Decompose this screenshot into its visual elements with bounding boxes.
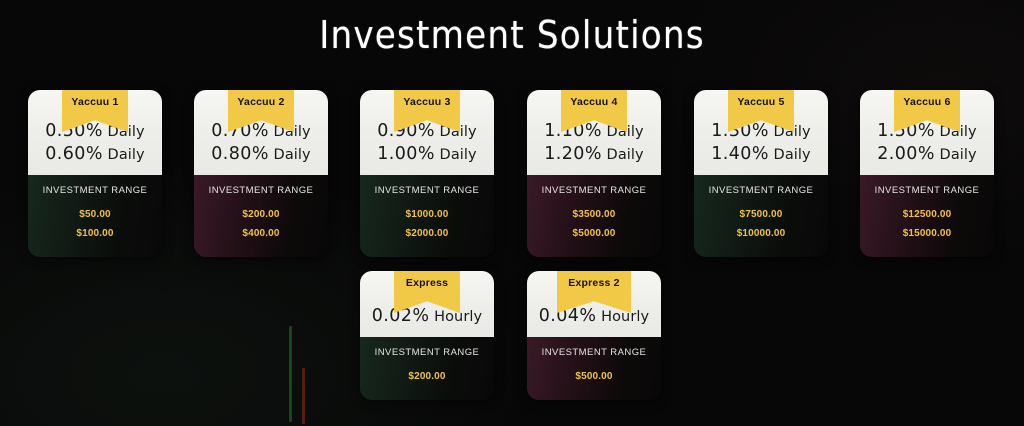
plan-rate-value: 1.00% [377, 144, 435, 164]
plan-rate-period: Hourly [596, 309, 649, 325]
investment-range-label: INVESTMENT RANGE [866, 185, 988, 196]
investment-amount: $200.00 [200, 205, 322, 224]
plan-card-footer: INVESTMENT RANGE$7500.00$10000.00 [694, 175, 828, 257]
investment-range-label: INVESTMENT RANGE [366, 347, 488, 358]
plan-card-header: Yaccuu 41.10% Daily1.20% Daily [527, 90, 661, 175]
investment-amount: $5000.00 [533, 224, 655, 243]
investment-amount: $15000.00 [866, 224, 988, 243]
plan-rate-period: Daily [103, 147, 145, 163]
investment-amount: $50.00 [34, 205, 156, 224]
plan-card-footer: INVESTMENT RANGE$200.00$400.00 [194, 175, 328, 257]
plan-name-label: Express 2 [568, 277, 619, 289]
plan-rate-period: Daily [269, 147, 311, 163]
plan-card-header: Yaccuu 61.50% Daily2.00% Daily [860, 90, 994, 175]
investment-amount: $2000.00 [366, 224, 488, 243]
plan-rate-line: 0.90% Daily [360, 120, 494, 143]
plan-rate-period: Daily [769, 147, 811, 163]
plan-card-footer: INVESTMENT RANGE$50.00$100.00 [28, 175, 162, 257]
investment-amount: $1000.00 [366, 205, 488, 224]
plan-name-label: Yaccuu 1 [71, 96, 118, 108]
plan-card-header: Yaccuu 10.50% Daily0.60% Daily [28, 90, 162, 175]
investment-amount: $200.00 [366, 367, 488, 386]
investment-amount: $400.00 [200, 224, 322, 243]
plan-card-header: Yaccuu 51.30% Daily1.40% Daily [694, 90, 828, 175]
plan-rate-period: Daily [935, 147, 977, 163]
plan-card-header: Yaccuu 20.70% Daily0.80% Daily [194, 90, 328, 175]
plan-rate-line: 0.02% Hourly [360, 305, 494, 328]
plan-rate-value: 2.00% [877, 144, 935, 164]
candlestick-bar [289, 326, 292, 422]
investment-range-label: INVESTMENT RANGE [533, 185, 655, 196]
investment-range-label: INVESTMENT RANGE [200, 185, 322, 196]
plan-card[interactable]: Express 20.04% HourlyINVESTMENT RANGE$50… [527, 271, 661, 400]
plan-name-label: Yaccuu 6 [903, 96, 950, 108]
plan-name-label: Yaccuu 2 [237, 96, 284, 108]
plan-rate-line: 0.04% Hourly [527, 305, 661, 328]
page-title: Investment Solutions [0, 12, 1024, 58]
plan-rate-line: 0.80% Daily [194, 143, 328, 166]
plan-name-label: Express [406, 277, 448, 289]
plan-card-footer: INVESTMENT RANGE$3500.00$5000.00 [527, 175, 661, 257]
investment-amount: $3500.00 [533, 205, 655, 224]
plan-rate-value: 0.80% [211, 144, 269, 164]
plan-name-label: Yaccuu 3 [403, 96, 450, 108]
plan-card[interactable]: Yaccuu 61.50% Daily2.00% DailyINVESTMENT… [860, 90, 994, 257]
investment-amount: $100.00 [34, 224, 156, 243]
investment-amount: $7500.00 [700, 205, 822, 224]
plan-rate-value: 0.60% [45, 144, 103, 164]
investment-range-label: INVESTMENT RANGE [533, 347, 655, 358]
plan-card-footer: INVESTMENT RANGE$12500.00$15000.00 [860, 175, 994, 257]
plan-rate-line: 1.40% Daily [694, 143, 828, 166]
plan-card[interactable]: Yaccuu 10.50% Daily0.60% DailyINVESTMENT… [28, 90, 162, 257]
investment-amount: $12500.00 [866, 205, 988, 224]
plan-card[interactable]: Express0.02% HourlyINVESTMENT RANGE$200.… [360, 271, 494, 400]
plan-card-footer: INVESTMENT RANGE$1000.00$2000.00 [360, 175, 494, 257]
plan-card-header: Yaccuu 30.90% Daily1.00% Daily [360, 90, 494, 175]
investment-amount: $500.00 [533, 367, 655, 386]
investment-amount: $10000.00 [700, 224, 822, 243]
plan-rate-line: 1.00% Daily [360, 143, 494, 166]
plan-rate-line: 1.50% Daily [860, 120, 994, 143]
candlestick-bar [302, 368, 305, 424]
investment-range-label: INVESTMENT RANGE [366, 185, 488, 196]
plan-name-label: Yaccuu 4 [570, 96, 617, 108]
investment-range-label: INVESTMENT RANGE [700, 185, 822, 196]
plan-card[interactable]: Yaccuu 20.70% Daily0.80% DailyINVESTMENT… [194, 90, 328, 257]
plan-card[interactable]: Yaccuu 51.30% Daily1.40% DailyINVESTMENT… [694, 90, 828, 257]
plan-rate-line: 0.70% Daily [194, 120, 328, 143]
investment-solutions-page: Investment Solutions Yaccuu 10.50% Daily… [0, 0, 1024, 426]
plan-card[interactable]: Yaccuu 41.10% Daily1.20% DailyINVESTMENT… [527, 90, 661, 257]
plan-card-header: Express 20.04% Hourly [527, 271, 661, 337]
investment-range-label: INVESTMENT RANGE [34, 185, 156, 196]
plan-name-label: Yaccuu 5 [737, 96, 784, 108]
plan-rate-line: 0.60% Daily [28, 143, 162, 166]
plan-rate-line: 2.00% Daily [860, 143, 994, 166]
plan-rate-period: Daily [602, 147, 644, 163]
plan-rate-value: 1.20% [544, 144, 602, 164]
plan-rate-line: 1.30% Daily [694, 120, 828, 143]
plan-rate-line: 0.50% Daily [28, 120, 162, 143]
plan-rate-line: 1.20% Daily [527, 143, 661, 166]
plan-rate-value: 1.40% [711, 144, 769, 164]
plan-card-footer: INVESTMENT RANGE$500.00 [527, 337, 661, 400]
plan-card[interactable]: Yaccuu 30.90% Daily1.00% DailyINVESTMENT… [360, 90, 494, 257]
plan-rate-line: 1.10% Daily [527, 120, 661, 143]
plan-card-header: Express0.02% Hourly [360, 271, 494, 337]
plan-card-footer: INVESTMENT RANGE$200.00 [360, 337, 494, 400]
plan-rate-period: Daily [435, 147, 477, 163]
